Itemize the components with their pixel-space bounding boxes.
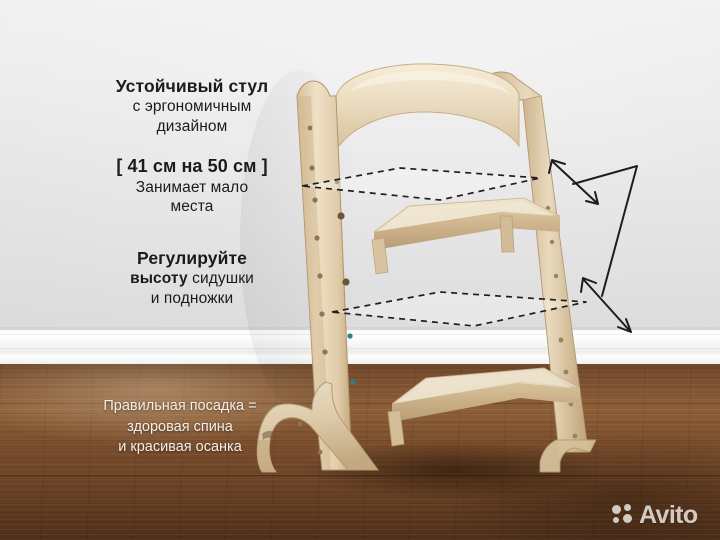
avito-watermark: Avito — [612, 500, 698, 530]
chair-seat-bracket-right — [500, 216, 514, 252]
callout-adjustable: Регулируйте высоту сидушки и подножки — [98, 248, 286, 309]
avito-logo-icon — [612, 504, 634, 526]
product-photo-scene: Устойчивый стул с эргономичным дизайном … — [0, 0, 720, 540]
callout-adjustable-rest: сидушки — [188, 270, 254, 287]
callout-adjustable-bold: высоту — [130, 270, 188, 287]
floor-caption-line1: Правильная посадка = — [70, 396, 290, 417]
callout-dimensions: [ 41 см на 50 см ] Занимает мало места — [92, 156, 292, 217]
callout-stable-chair-title: Устойчивый стул — [98, 76, 286, 97]
callout-adjustable-line3: и подножки — [98, 289, 286, 309]
adjust-arrow-lower — [581, 278, 631, 332]
callout-stable-chair-line3: дизайном — [98, 117, 286, 137]
adjust-arrow-connector — [573, 166, 637, 296]
floor-caption-line2: здоровая спина — [70, 417, 290, 438]
runner-hole-2 — [318, 450, 323, 455]
floor-caption-line3: и красивая осанка — [70, 437, 290, 458]
runner-hole-1 — [298, 422, 303, 427]
adjust-arrow-upper — [549, 160, 598, 204]
floor-caption: Правильная посадка = здоровая спина и кр… — [70, 396, 290, 458]
callout-adjustable-title: Регулируйте — [98, 248, 286, 269]
callout-adjustable-line2: высоту сидушки — [98, 269, 286, 289]
callout-dimensions-line3: места — [92, 197, 292, 217]
callout-stable-chair-line2: с эргономичным — [98, 97, 286, 117]
callout-stable-chair: Устойчивый стул с эргономичным дизайном — [98, 76, 286, 137]
callout-dimensions-title: [ 41 см на 50 см ] — [92, 156, 292, 178]
callout-dimensions-line2: Занимает мало — [92, 178, 292, 198]
avito-brand-text: Avito — [639, 503, 698, 528]
